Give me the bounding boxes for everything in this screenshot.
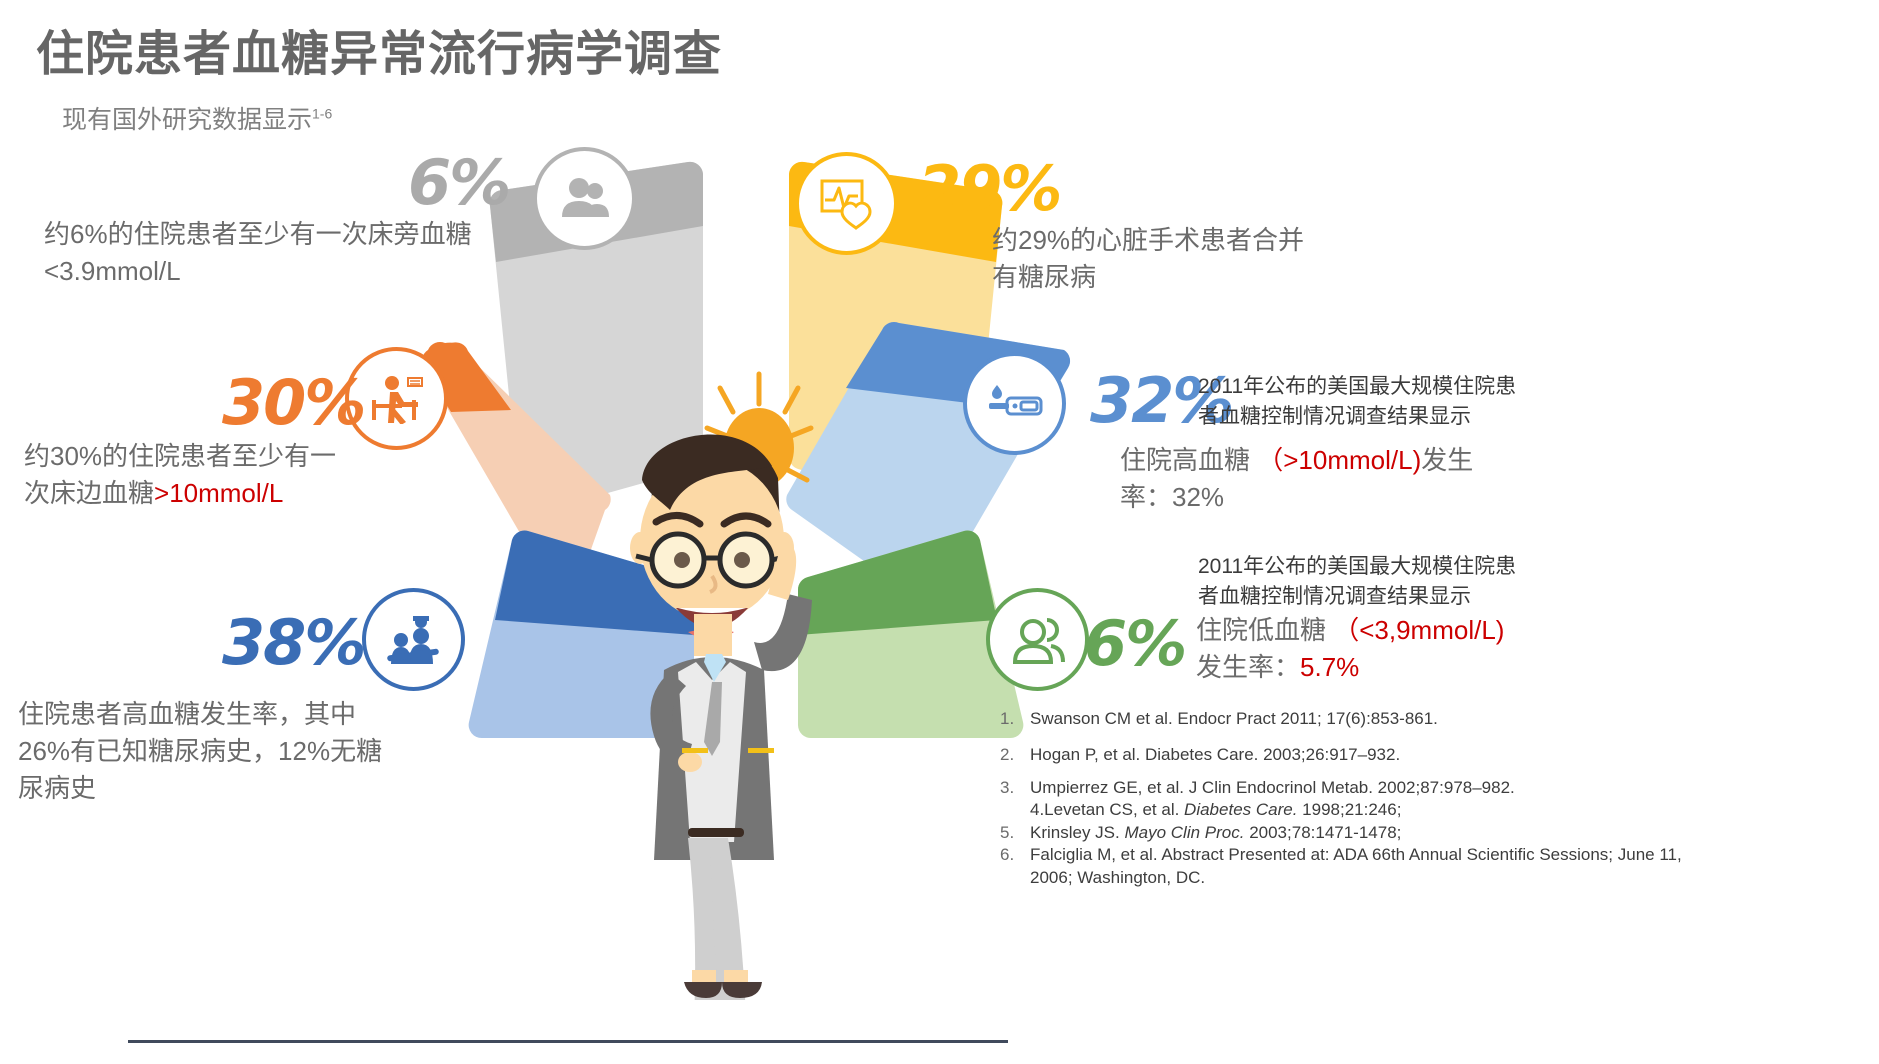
icon-circle-amber[interactable] [795, 152, 898, 255]
text-grey-6: 约6%的住院患者至少有一次床旁血糖 <3.9mmol/L [44, 216, 544, 290]
reference-text: 4.Levetan CS, et al. Diabetes Care. 1998… [1030, 799, 1700, 821]
text-amber-29-line1: 约29%的心脏手术患者合并 [992, 222, 1412, 259]
reference-number: 3. [1000, 777, 1030, 799]
text-green-6-line2-pre: 发生率： [1196, 652, 1300, 682]
reference-number [1000, 799, 1030, 821]
reference-text: Hogan P, et al. Diabetes Care. 2003;26:9… [1030, 744, 1700, 766]
reference-number: 5. [1000, 822, 1030, 844]
insulin-pen-icon [985, 381, 1045, 427]
text-amber-29: 约29%的心脏手术患者合并 有糖尿病 [992, 222, 1412, 296]
icon-circle-grey[interactable] [533, 147, 636, 250]
icon-circle-navy[interactable] [362, 588, 465, 691]
text-navy-38-line2: 26%有已知糖尿病史，12%无糖 [18, 733, 488, 770]
icon-circle-green[interactable] [986, 588, 1089, 691]
percent-amber-29: 29% [918, 158, 1060, 220]
text-grey-6-line1: 约6%的住院患者至少有一次床旁血糖 [44, 216, 544, 253]
reference-row: 1. Swanson CM et al. Endocr Pract 2011; … [1000, 708, 1700, 730]
text-orange-30-red: >10mmol/L [154, 478, 283, 508]
two-people-icon [1009, 612, 1067, 668]
reference-text: Swanson CM et al. Endocr Pract 2011; 17(… [1030, 708, 1700, 730]
text-orange-30: 约30%的住院患者至少有一 次床边血糖>10mmol/L [24, 438, 494, 512]
infographic-canvas: 住院患者血糖异常流行病学调查 现有国外研究数据显示1-6 [0, 0, 1879, 1064]
reference-text: Krinsley JS. Mayo Clin Proc. 2003;78:147… [1030, 822, 1700, 844]
medical-family-icon [385, 612, 443, 668]
people-icon [557, 171, 613, 227]
subtitle-text: 现有国外研究数据显示 [62, 106, 312, 134]
page-title: 住院患者血糖异常流行病学调查 [36, 14, 722, 84]
head-green-6: 2011年公布的美国最大规模住院患 者血糖控制情况调查结果显示 [1198, 552, 1838, 612]
text-blue-32-line1: 住院高血糖 （>10mmol/L)发生 [1120, 442, 1879, 479]
text-blue-32-line2: 率：32% [1120, 479, 1879, 516]
reference-row: 6. Falciglia M, et al. Abstract Presente… [1000, 844, 1700, 889]
text-green-6-red: （<3,9mmol/L) [1333, 615, 1504, 645]
text-grey-6-line2: <3.9mmol/L [44, 253, 544, 290]
reference-row: 5. Krinsley JS. Mayo Clin Proc. 2003;78:… [1000, 822, 1700, 844]
text-orange-30-line1: 约30%的住院患者至少有一 [24, 438, 494, 475]
text-amber-29-line2: 有糖尿病 [992, 259, 1412, 296]
head-green-6-line2: 者血糖控制情况调查结果显示 [1198, 582, 1838, 612]
reference-row: 2. Hogan P, et al. Diabetes Care. 2003;2… [1000, 744, 1700, 766]
head-blue-32: 2011年公布的美国最大规模住院患 者血糖控制情况调查结果显示 [1198, 372, 1838, 432]
reference-row: 4.Levetan CS, et al. Diabetes Care. 1998… [1000, 799, 1700, 821]
text-navy-38: 住院患者高血糖发生率，其中 26%有已知糖尿病史，12%无糖 尿病史 [18, 696, 488, 807]
percent-green-6: 6% [1084, 613, 1185, 675]
text-blue-32-red: （>10mmol/L) [1257, 445, 1421, 475]
text-blue-32-post: 发生 [1421, 445, 1473, 475]
icon-circle-blue[interactable] [963, 352, 1066, 455]
text-blue-32: 住院高血糖 （>10mmol/L)发生 率：32% [1120, 442, 1879, 516]
footer-divider [128, 1040, 1008, 1043]
raised-arm [754, 594, 812, 671]
text-green-6-line1: 住院低血糖 （<3,9mmol/L) [1196, 612, 1876, 649]
percent-orange-30: 30% [222, 372, 364, 434]
text-orange-30-pre: 次床边血糖 [24, 478, 154, 508]
head-green-6-line1: 2011年公布的美国最大规模住院患 [1198, 552, 1838, 582]
head-blue-32-line1: 2011年公布的美国最大规模住院患 [1198, 372, 1838, 402]
references-list: 1. Swanson CM et al. Endocr Pract 2011; … [1000, 708, 1700, 894]
text-navy-38-line3: 尿病史 [18, 770, 488, 807]
text-green-6: 住院低血糖 （<3,9mmol/L) 发生率：5.7% [1196, 612, 1876, 686]
percent-grey-6: 6% [408, 152, 509, 214]
text-navy-38-line1: 住院患者高血糖发生率，其中 [18, 696, 488, 733]
reference-number: 6. [1000, 844, 1030, 889]
head-blue-32-line2: 者血糖控制情况调查结果显示 [1198, 402, 1838, 432]
reference-text: Falciglia M, et al. Abstract Presented a… [1030, 844, 1700, 889]
patient-bed-icon [368, 374, 426, 424]
page-subtitle: 现有国外研究数据显示1-6 [62, 100, 332, 136]
text-green-6-line2: 发生率：5.7% [1196, 649, 1876, 686]
subtitle-superscript: 1-6 [312, 106, 332, 122]
mascot-character [612, 370, 882, 1000]
percent-navy-38: 38% [222, 612, 364, 674]
heart-monitor-icon [818, 176, 876, 232]
reference-text: Umpierrez GE, et al. J Clin Endocrinol M… [1030, 777, 1700, 799]
reference-row: 3. Umpierrez GE, et al. J Clin Endocrino… [1000, 777, 1700, 799]
text-blue-32-pre: 住院高血糖 [1120, 445, 1257, 475]
text-green-6-line2-red: 5.7% [1300, 652, 1359, 682]
reference-number: 2. [1000, 744, 1030, 766]
text-green-6-pre: 住院低血糖 [1196, 615, 1333, 645]
text-orange-30-line2: 次床边血糖>10mmol/L [24, 475, 494, 512]
reference-number: 1. [1000, 708, 1030, 730]
